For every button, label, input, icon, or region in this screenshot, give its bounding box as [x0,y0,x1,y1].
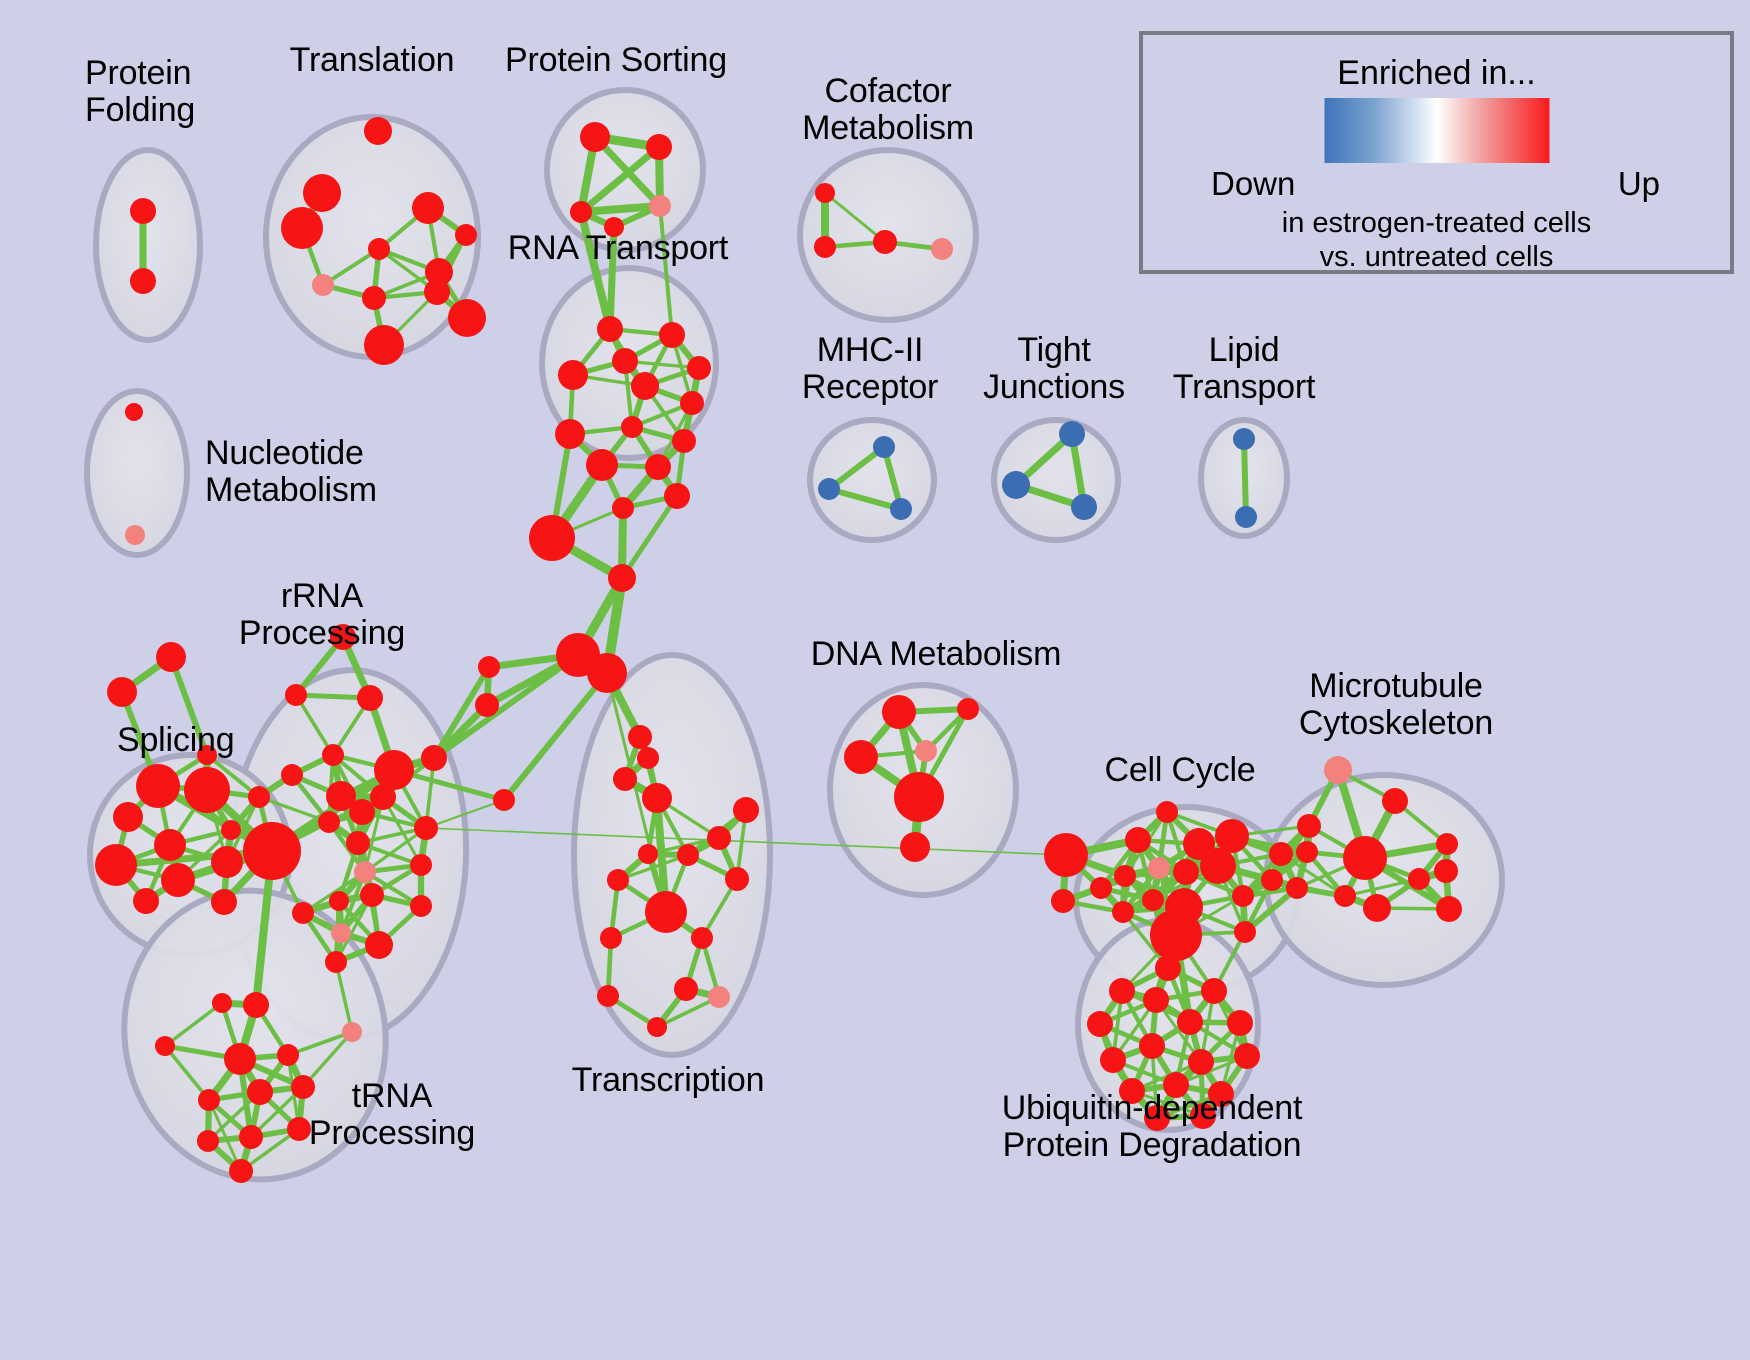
network-node[interactable] [725,867,749,891]
cluster-label-protein_folding: Protein Folding [85,55,195,128]
network-node[interactable] [303,174,341,212]
network-node[interactable] [687,356,711,380]
network-node[interactable] [362,286,386,310]
network-node[interactable] [365,931,393,959]
network-node[interactable] [1436,833,1458,855]
network-node[interactable] [154,829,186,861]
network-node[interactable] [621,416,643,438]
network-node[interactable] [357,685,383,711]
network-node[interactable] [815,183,835,203]
network-node[interactable] [1286,877,1308,899]
network-node[interactable] [243,992,269,1018]
network-node[interactable] [1071,494,1097,520]
network-node[interactable] [410,854,432,876]
network-node[interactable] [342,1022,362,1042]
network-node[interactable] [708,986,730,1008]
network-node[interactable] [281,764,303,786]
enrichment-map-figure: Protein FoldingTranslationProtein Sortin… [0,0,1750,1360]
network-node[interactable] [1059,421,1085,447]
network-node[interactable] [360,883,384,907]
network-node[interactable] [664,483,690,509]
network-node[interactable] [130,268,156,294]
network-node[interactable] [130,198,156,224]
network-node[interactable] [631,372,659,400]
network-node[interactable] [354,861,376,883]
network-node[interactable] [915,740,937,762]
cluster-label-dna_metabolism: DNA Metabolism [811,636,1061,673]
cluster-label-splicing: Splicing [117,722,234,759]
network-node[interactable] [1232,885,1254,907]
network-node[interactable] [493,789,515,811]
network-node[interactable] [212,993,232,1013]
network-node[interactable] [95,844,137,886]
network-node[interactable] [844,740,878,774]
network-node[interactable] [587,653,627,693]
network-edge [434,655,578,758]
legend-color-gradient [1324,98,1549,163]
network-node[interactable] [421,745,447,771]
network-node[interactable] [1112,901,1134,923]
network-node[interactable] [412,192,444,224]
network-node[interactable] [1143,987,1169,1013]
network-node[interactable] [107,677,137,707]
network-node[interactable] [1156,801,1178,823]
network-node[interactable] [224,1043,256,1075]
cluster-ellipse-protein_folding[interactable] [96,150,200,340]
network-node[interactable] [597,985,619,1007]
network-node[interactable] [113,802,143,832]
network-node[interactable] [674,977,698,1001]
network-node[interactable] [558,360,588,390]
network-node[interactable] [882,695,916,729]
network-node[interactable] [1044,833,1088,877]
cluster-label-rrna_processing: rRNA Processing [239,578,405,651]
network-node[interactable] [645,454,671,480]
network-node[interactable] [1177,1009,1203,1035]
network-node[interactable] [349,799,375,825]
cluster-label-mhc_ii_receptor: MHC-II Receptor [802,332,938,405]
network-node[interactable] [448,299,486,337]
network-node[interactable] [1234,1043,1260,1069]
network-node[interactable] [1125,827,1151,853]
network-node[interactable] [642,783,672,813]
network-node[interactable] [247,1079,273,1105]
network-node[interactable] [1155,955,1181,981]
network-node[interactable] [229,1159,253,1183]
network-node[interactable] [161,863,195,897]
network-node[interactable] [331,923,351,943]
network-node[interactable] [156,642,186,672]
network-node[interactable] [410,895,432,917]
network-node[interactable] [638,844,658,864]
network-node[interactable] [873,230,897,254]
network-node[interactable] [672,429,696,453]
cluster-label-translation: Translation [290,42,455,79]
network-node[interactable] [931,238,953,260]
cluster-label-nucleotide_metabolism: Nucleotide Metabolism [205,435,377,508]
network-node[interactable] [1334,885,1356,907]
network-node[interactable] [1142,889,1164,911]
network-node[interactable] [1324,756,1352,784]
network-node[interactable] [608,564,636,592]
network-node[interactable] [957,698,979,720]
network-node[interactable] [1434,859,1458,883]
network-node[interactable] [894,772,944,822]
cluster-label-transcription: Transcription [572,1062,765,1099]
network-node[interactable] [475,693,499,717]
network-node[interactable] [133,888,159,914]
network-node[interactable] [1201,978,1227,1004]
cluster-label-rna_transport: RNA Transport [508,230,728,267]
network-node[interactable] [529,515,575,561]
network-node[interactable] [607,869,629,891]
network-node[interactable] [292,902,314,924]
cluster-label-lipid_transport: Lipid Transport [1173,332,1315,405]
network-node[interactable] [1233,428,1255,450]
network-node[interactable] [211,846,243,878]
network-node[interactable] [1100,1047,1126,1073]
network-node[interactable] [155,1036,175,1056]
network-node[interactable] [1269,842,1293,866]
network-node[interactable] [900,832,930,862]
network-node[interactable] [659,322,685,348]
legend-caption-line-1: in estrogen-treated cells [1143,207,1730,240]
network-node[interactable] [733,797,759,823]
network-node[interactable] [1261,869,1283,891]
network-node[interactable] [1297,814,1321,838]
network-node[interactable] [455,224,477,246]
network-node[interactable] [243,822,301,880]
network-node[interactable] [322,744,344,766]
network-node[interactable] [613,767,637,791]
network-node[interactable] [649,195,671,217]
cluster-label-microtubule_cytoskeleton: Microtubule Cytoskeleton [1299,668,1493,741]
network-node[interactable] [1200,848,1236,884]
network-node[interactable] [374,750,414,790]
network-node[interactable] [637,747,659,769]
network-node[interactable] [248,786,270,808]
network-node[interactable] [612,348,638,374]
network-node[interactable] [1148,857,1170,879]
network-node[interactable] [1227,1010,1253,1036]
network-node[interactable] [329,891,349,911]
network-node[interactable] [680,391,704,415]
network-node[interactable] [277,1044,299,1066]
network-node[interactable] [221,820,241,840]
network-node[interactable] [691,927,713,949]
network-node[interactable] [555,419,585,449]
network-node[interactable] [478,656,500,678]
network-node[interactable] [287,1117,311,1141]
network-node[interactable] [184,767,230,813]
network-node[interactable] [1109,978,1135,1004]
cluster-label-ubiquitin_protein_degradation: Ubiquitin-dependent Protein Degradation [1002,1090,1303,1163]
network-node[interactable] [580,122,610,152]
network-node[interactable] [586,449,618,481]
network-node[interactable] [312,274,334,296]
legend-high-label: Up [1618,165,1660,203]
network-node[interactable] [628,725,652,749]
network-node[interactable] [318,811,340,833]
legend-title: Enriched in... [1143,54,1730,93]
cluster-label-trna_processing: tRNA Processing [309,1078,475,1151]
network-node[interactable] [414,816,438,840]
network-node[interactable] [346,831,370,855]
network-node[interactable] [646,134,672,160]
network-node[interactable] [424,279,450,305]
legend-caption-line-2: vs. untreated cells [1143,241,1730,274]
network-node[interactable] [707,826,731,850]
network-node[interactable] [647,1017,667,1037]
network-node[interactable] [1173,859,1199,885]
network-node[interactable] [198,1089,220,1111]
network-node[interactable] [1002,471,1030,499]
network-node[interactable] [1343,836,1387,880]
network-node[interactable] [1139,1033,1165,1059]
cluster-label-protein_sorting: Protein Sorting [505,42,727,79]
network-node[interactable] [818,478,840,500]
network-node[interactable] [1382,788,1408,814]
network-node[interactable] [125,525,145,545]
network-node[interactable] [125,403,143,421]
network-node[interactable] [1215,819,1249,853]
network-node[interactable] [1150,909,1202,961]
network-node[interactable] [136,764,180,808]
legend-box: Enriched in... Down Up in estrogen-treat… [1139,31,1734,274]
network-node[interactable] [1051,889,1075,913]
network-node[interactable] [211,889,237,915]
network-node[interactable] [645,891,687,933]
network-node[interactable] [600,927,622,949]
network-node[interactable] [1296,841,1318,863]
network-node[interactable] [281,207,323,249]
network-node[interactable] [325,951,347,973]
network-node[interactable] [1090,877,1112,899]
network-node[interactable] [364,325,404,365]
network-node[interactable] [239,1125,263,1149]
network-node[interactable] [370,784,396,810]
network-node[interactable] [1408,868,1430,890]
network-node[interactable] [197,1130,219,1152]
network-node[interactable] [368,238,390,260]
network-edge [1244,439,1246,517]
network-node[interactable] [570,201,592,223]
legend-low-label: Down [1211,165,1295,203]
network-node[interactable] [1234,921,1256,943]
network-node[interactable] [890,498,912,520]
network-node[interactable] [364,117,392,145]
cluster-label-cofactor_metabolism: Cofactor Metabolism [802,73,974,146]
network-node[interactable] [677,844,699,866]
network-node[interactable] [285,684,307,706]
cluster-label-tight_junctions: Tight Junctions [983,332,1125,405]
network-node[interactable] [1235,506,1257,528]
network-node[interactable] [612,497,634,519]
network-node[interactable] [1114,865,1136,887]
network-node[interactable] [814,236,836,258]
network-node[interactable] [1436,896,1462,922]
network-node[interactable] [597,316,623,342]
network-node[interactable] [873,436,895,458]
network-node[interactable] [1087,1011,1113,1037]
cluster-label-cell_cycle: Cell Cycle [1104,752,1255,789]
network-node[interactable] [1363,894,1391,922]
network-node[interactable] [1188,1049,1214,1075]
